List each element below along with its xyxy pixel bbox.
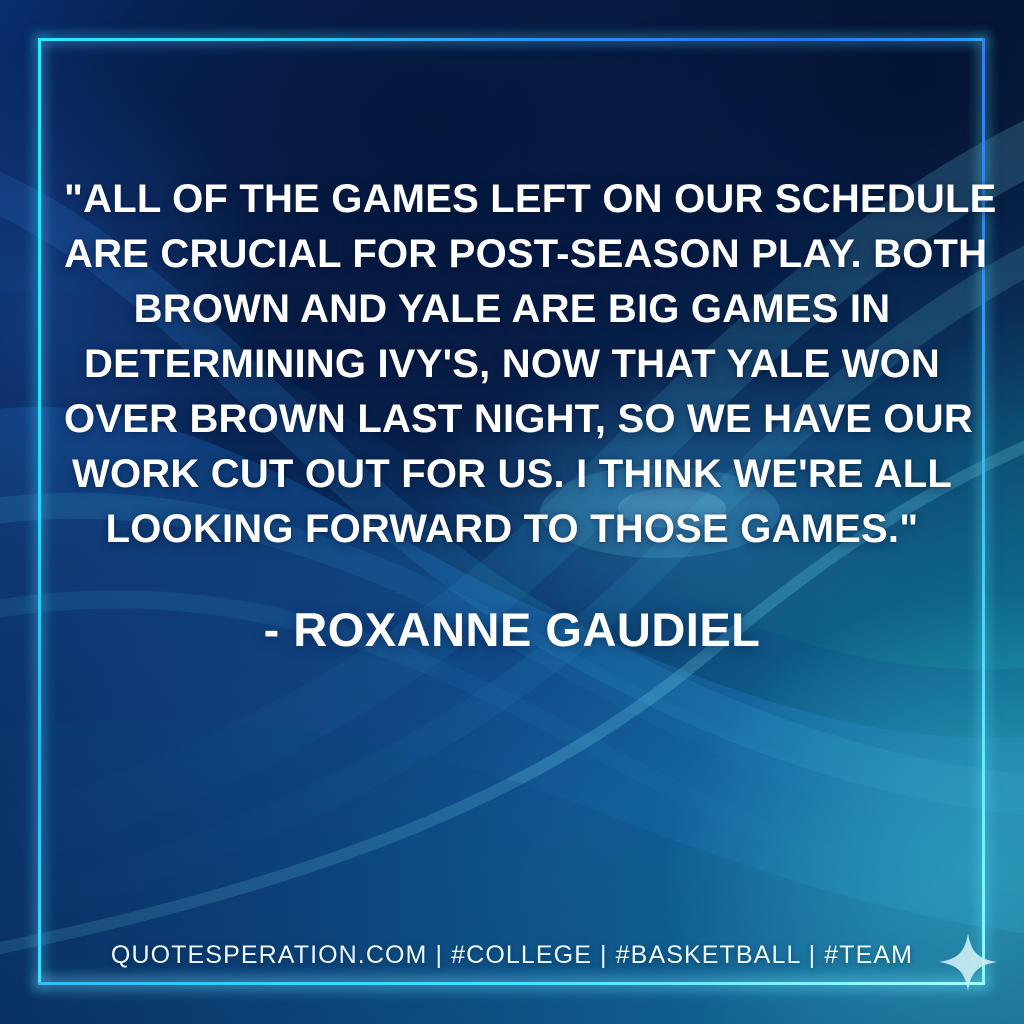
card-content: "ALL OF THE GAMES LEFT ON OUR SCHEDULE A… — [0, 0, 1024, 1024]
quote-text: "ALL OF THE GAMES LEFT ON OUR SCHEDULE A… — [64, 172, 960, 557]
quote-line: "ALL OF THE GAMES LEFT ON OUR SCHEDULE — [64, 172, 960, 227]
quote-line: OVER BROWN LAST NIGHT, SO WE HAVE OUR — [64, 392, 960, 447]
quote-line: LOOKING FORWARD TO THOSE GAMES." — [64, 502, 960, 557]
quote-line: BROWN AND YALE ARE BIG GAMES IN — [64, 282, 960, 337]
quote-attribution: - ROXANNE GAUDIEL — [0, 602, 1024, 657]
quote-line: DETERMINING IVY'S, NOW THAT YALE WON — [64, 337, 960, 392]
footer-credit: QUOTESPERATION.COM | #COLLEGE | #BASKETB… — [0, 941, 1024, 970]
quote-card: "ALL OF THE GAMES LEFT ON OUR SCHEDULE A… — [0, 0, 1024, 1024]
quote-line: ARE CRUCIAL FOR POST-SEASON PLAY. BOTH — [64, 227, 960, 282]
quote-line: WORK CUT OUT FOR US. I THINK WE'RE ALL — [64, 447, 960, 502]
four-point-star-icon — [938, 932, 998, 992]
